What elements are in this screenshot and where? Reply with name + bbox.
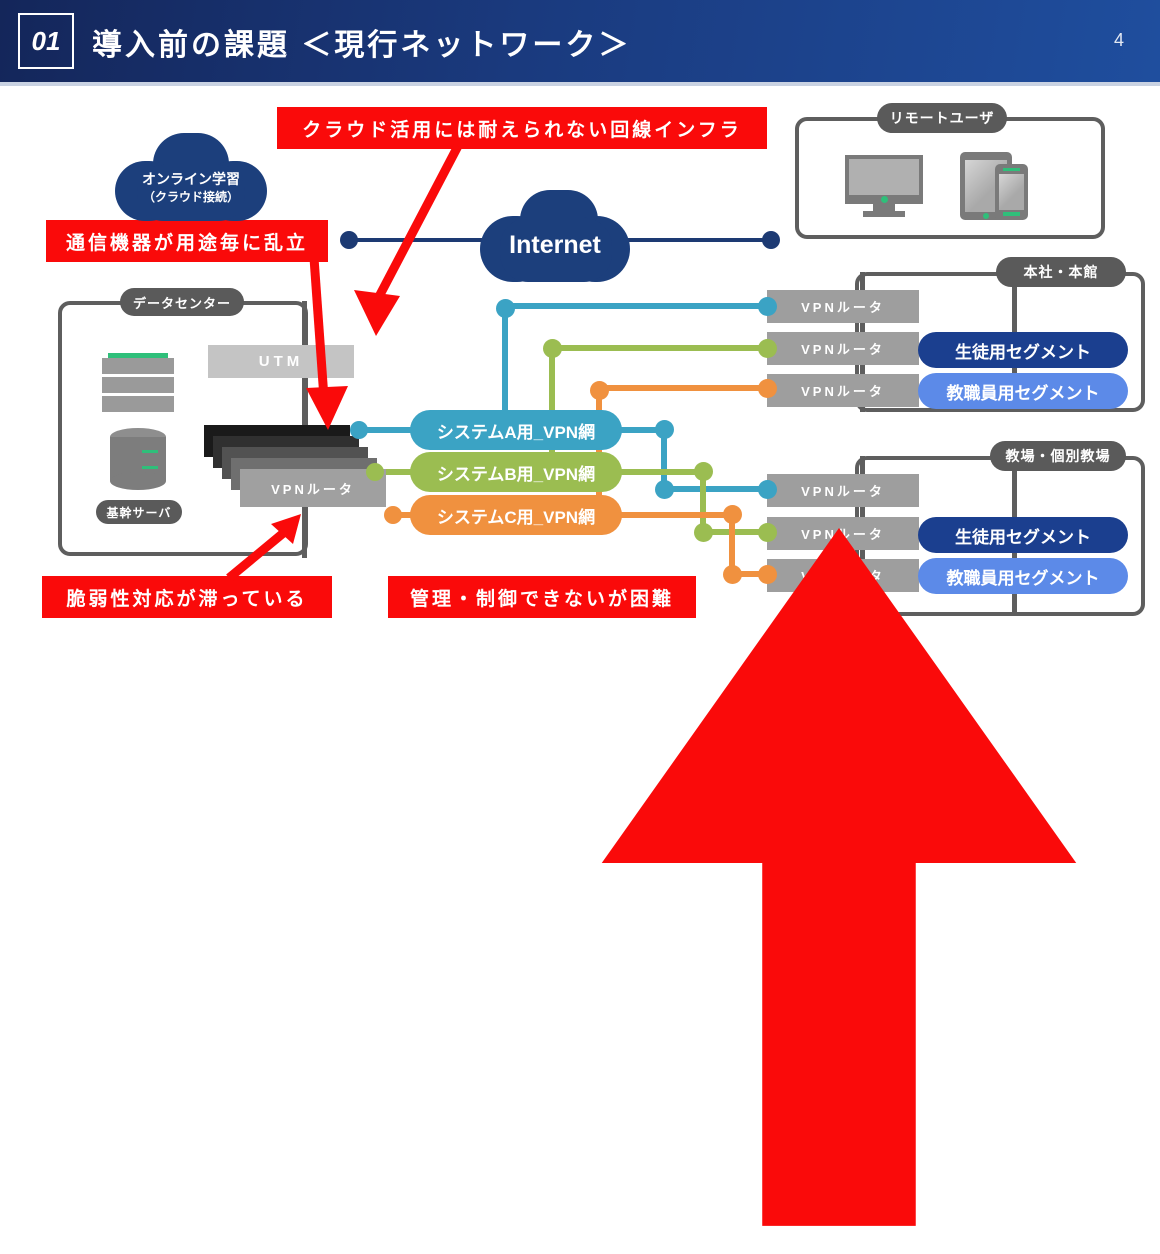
branch-teal-corner-dot2 xyxy=(655,480,674,499)
monitor-screen xyxy=(845,155,923,199)
hq-router-2: VPNルータ xyxy=(767,332,919,365)
monitor-foot xyxy=(863,211,905,217)
branch-green-out xyxy=(618,469,704,475)
branch-orange-corner-dot xyxy=(723,505,742,524)
dc-link-teal-dot xyxy=(350,421,368,439)
remote-users-box xyxy=(795,117,1105,239)
hq-router-1-dot xyxy=(758,297,777,316)
trunk-green-to-hq xyxy=(552,345,770,351)
internet-line-right xyxy=(612,238,772,242)
branch-router-1-label: VPNルータ xyxy=(801,481,885,500)
branch-teal-to-router xyxy=(664,486,770,492)
vpn-network-b: システムB用_VPN網 xyxy=(410,452,622,492)
arrow-cloud-infra xyxy=(340,140,470,350)
rack-unit-2 xyxy=(102,377,174,393)
hq-router-2-dot xyxy=(758,339,777,358)
header-divider xyxy=(0,82,1160,86)
db-disc-bottom xyxy=(110,472,166,490)
remote-users-tag: リモートユーザ xyxy=(877,103,1007,133)
page-number: 4 xyxy=(1114,30,1124,51)
smartphone-speaker xyxy=(1003,168,1020,171)
dc-link-orange-dot xyxy=(384,506,402,524)
vpn-network-a-label: システムA用_VPN網 xyxy=(437,418,595,443)
monitor-icon xyxy=(845,155,923,217)
vpn-network-a: システムA用_VPN網 xyxy=(410,410,622,450)
slide-number: 01 xyxy=(20,15,72,67)
hq-router-3: VPNルータ xyxy=(767,374,919,407)
arrow-device-sprawl xyxy=(290,258,350,438)
dc-router-label: VPNルータ xyxy=(271,479,355,498)
trunk-orange-corner-dot xyxy=(590,381,609,400)
db-accent-1 xyxy=(142,450,158,453)
online-learning-cloud: オンライン学習 （クラウド接続） xyxy=(115,133,267,221)
hq-segment-staff: 教職員用セグメント xyxy=(918,373,1128,409)
smartphone-screen xyxy=(999,174,1024,210)
hq-router-2-label: VPNルータ xyxy=(801,339,885,358)
trunk-teal-riser xyxy=(502,306,508,414)
hq-router-3-label: VPNルータ xyxy=(801,381,885,400)
arrow-mgmt-control xyxy=(518,528,1160,1254)
hq-segment-staff-label: 教職員用セグメント xyxy=(947,379,1100,404)
hq-router-3-dot xyxy=(758,379,777,398)
cloud-label-line2: （クラウド接続） xyxy=(115,190,267,205)
branch-teal-corner-dot xyxy=(655,420,674,439)
datacenter-tag: データセンター xyxy=(120,288,244,316)
rack-unit-1 xyxy=(102,358,174,374)
dc-router-layer-5: VPNルータ xyxy=(240,469,386,507)
branch-router-1-dot xyxy=(758,480,777,499)
cloud-label-line1: オンライン学習 xyxy=(115,171,267,189)
rack-unit-3 xyxy=(102,396,174,412)
dc-link-green-dot xyxy=(366,463,384,481)
internet-label: Internet xyxy=(480,230,630,261)
vpn-network-c-label: システムC用_VPN網 xyxy=(437,503,595,528)
internet-line-right-dot xyxy=(762,231,780,249)
tablet-home-led xyxy=(983,213,989,219)
hq-router-1-label: VPNルータ xyxy=(801,297,885,316)
branch-green-corner-dot xyxy=(694,462,713,481)
trunk-orange-to-hq xyxy=(599,385,770,391)
internet-cloud: Internet xyxy=(480,190,630,282)
hq-segment-students: 生徒用セグメント xyxy=(918,332,1128,368)
vpn-network-b-label: システムB用_VPN網 xyxy=(437,460,595,485)
database-icon xyxy=(110,428,166,490)
monitor-power-led xyxy=(881,196,888,203)
callout-device-sprawl: 通信機器が用途毎に乱立 xyxy=(46,220,328,262)
hq-site-tag: 本社・本館 xyxy=(996,257,1126,287)
trunk-teal-to-hq xyxy=(505,303,770,309)
page-title: 導入前の課題 ＜現行ネットワーク＞ xyxy=(92,20,631,64)
server-rack-icon xyxy=(102,353,174,415)
smartphone-home-bar xyxy=(1003,212,1020,216)
arrow-vuln-response xyxy=(215,510,315,584)
branch-router-1: VPNルータ xyxy=(767,474,919,507)
core-server-tag: 基幹サーバ xyxy=(96,500,182,524)
hq-segment-students-label: 生徒用セグメント xyxy=(955,338,1091,363)
slide-number-box: 01 xyxy=(18,13,74,69)
smartphone-icon xyxy=(995,164,1028,220)
branch-site-tag: 教場・個別教場 xyxy=(990,441,1126,471)
hq-router-1: VPNルータ xyxy=(767,290,919,323)
db-accent-2 xyxy=(142,466,158,469)
trunk-teal-corner-dot xyxy=(496,299,515,318)
branch-orange-out xyxy=(618,512,732,518)
trunk-green-corner-dot xyxy=(543,339,562,358)
